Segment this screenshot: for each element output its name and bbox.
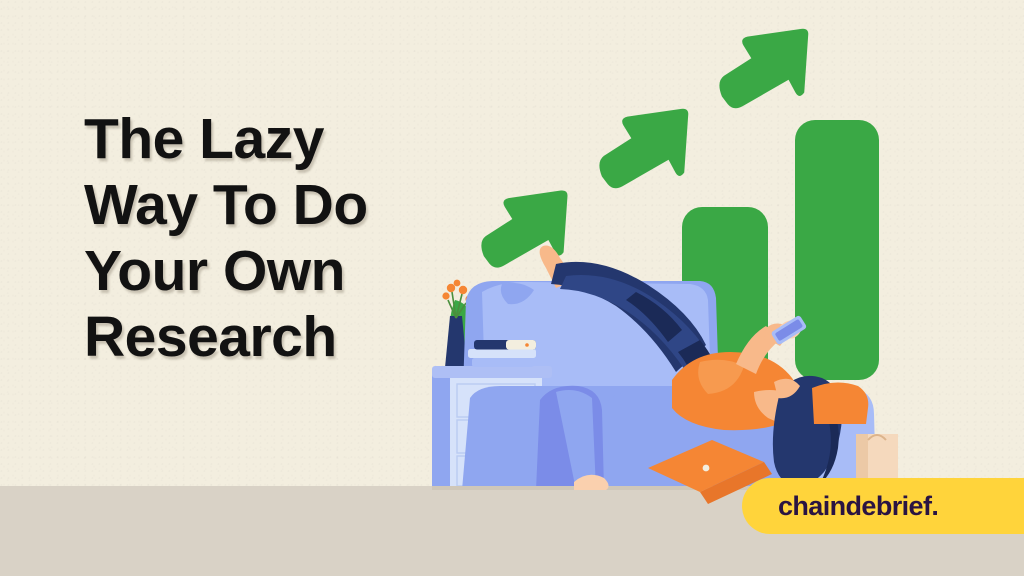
nightstand-side-panel bbox=[432, 372, 450, 490]
title-line-3: Your Own bbox=[84, 238, 504, 304]
book-top-page bbox=[506, 340, 536, 350]
laptop-dot bbox=[703, 465, 710, 472]
cushion-orange bbox=[812, 382, 868, 424]
title-line-1: The Lazy bbox=[84, 106, 504, 172]
book-dot bbox=[525, 343, 529, 347]
poster-canvas: The Lazy Way To Do Your Own Research cha… bbox=[0, 0, 1024, 576]
growth-arrow-3 bbox=[719, 29, 808, 109]
growth-arrow-2 bbox=[599, 109, 688, 189]
logo-text: chaindebrief. bbox=[778, 491, 938, 522]
title-line-2: Way To Do bbox=[84, 172, 504, 238]
bar-tall bbox=[795, 120, 879, 380]
page-title: The Lazy Way To Do Your Own Research bbox=[84, 106, 504, 370]
logo-badge[interactable]: chaindebrief. bbox=[742, 478, 1024, 534]
title-line-4: Research bbox=[84, 304, 504, 370]
